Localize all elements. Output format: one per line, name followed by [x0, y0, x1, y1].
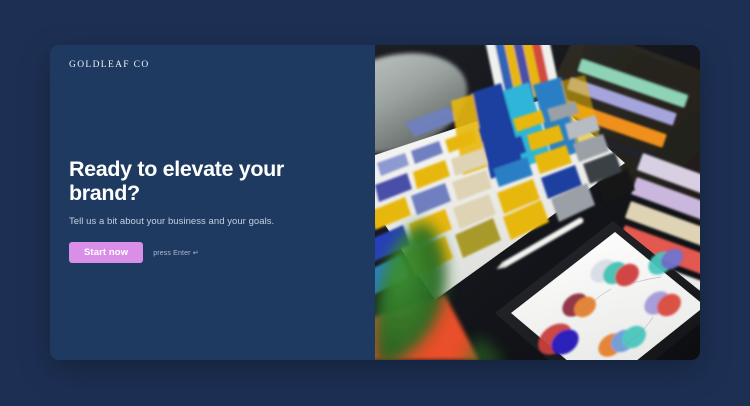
page-subtitle: Tell us a bit about your business and yo… — [69, 216, 359, 229]
copy-panel: GOLDLEAF CO Ready to elevate your brand?… — [50, 45, 375, 360]
hero-photo — [375, 45, 700, 360]
start-now-button[interactable]: Start now — [69, 242, 143, 264]
hero-photo-illustration — [375, 45, 700, 360]
keyboard-hint-label: press Enter ↵ — [153, 249, 199, 257]
cta-row: Start now press Enter ↵ — [69, 242, 359, 264]
page-title: Ready to elevate your brand? — [69, 157, 359, 205]
brand-logo: GOLDLEAF CO — [69, 60, 150, 70]
copy-block: Ready to elevate your brand? Tell us a b… — [69, 157, 359, 263]
hero-card: GOLDLEAF CO Ready to elevate your brand?… — [50, 45, 700, 360]
